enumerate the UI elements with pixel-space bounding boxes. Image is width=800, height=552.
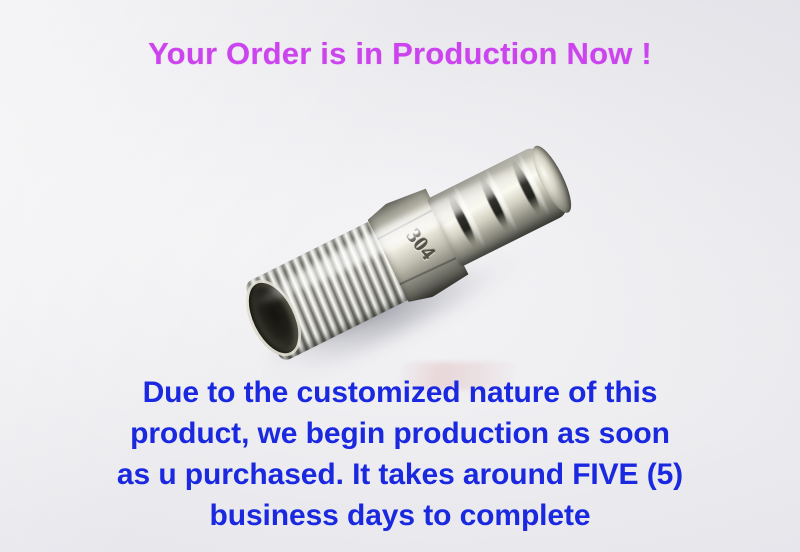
notice-line: Due to the customized nature of this [0,372,800,413]
notice-line: product, we begin production as soon [0,413,800,454]
notice-line: business days to complete [0,495,800,536]
page-title: Your Order is in Production Now ! [0,36,800,72]
production-notice-text: Due to the customized nature of this pro… [0,372,800,536]
product-image: 304 [212,148,592,363]
notice-line: as u purchased. It takes around FIVE (5) [0,454,800,495]
notice-graphic: Your Order is in Production Now ! 304 Du… [0,0,800,552]
